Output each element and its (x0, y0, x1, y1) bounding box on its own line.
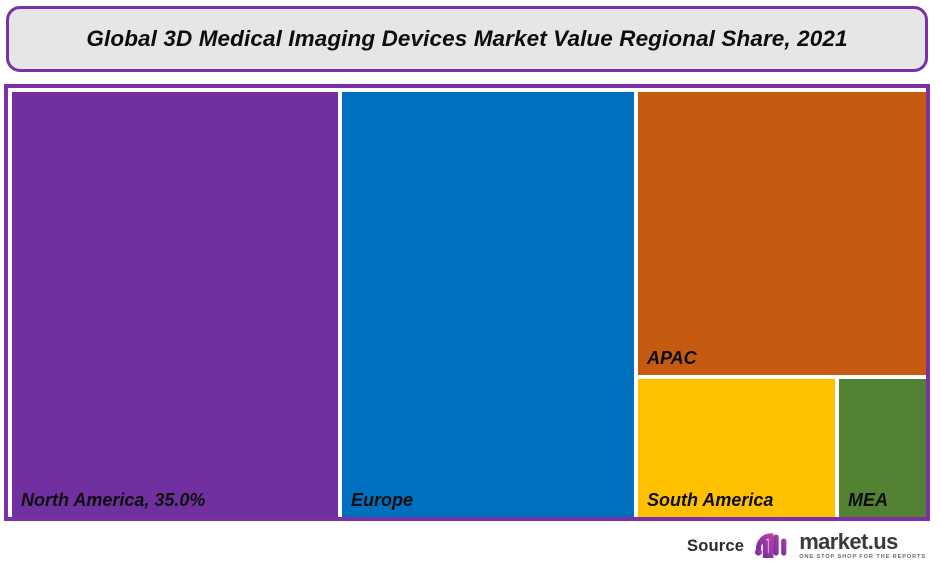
treemap-tile-label: South America (647, 491, 773, 511)
market-us-logo[interactable]: market.us ONE STOP SHOP FOR THE REPORTS (753, 530, 926, 563)
source-label: Source (687, 537, 744, 556)
infographic-root: Global 3D Medical Imaging Devices Market… (0, 0, 940, 566)
treemap-tile-label: Europe (351, 491, 413, 511)
treemap-tile-europe[interactable]: Europe (342, 92, 634, 517)
logo-name: market.us (799, 531, 898, 553)
market-us-logo-icon (753, 530, 793, 563)
chart-title-box: Global 3D Medical Imaging Devices Market… (6, 6, 928, 72)
page-title: Global 3D Medical Imaging Devices Market… (86, 26, 847, 52)
chart-frame: North America, 35.0%EuropeAPACSouth Amer… (4, 84, 930, 521)
logo-tagline: ONE STOP SHOP FOR THE REPORTS (799, 555, 926, 561)
treemap-tile-label: MEA (848, 491, 888, 511)
treemap-tile-south-america[interactable]: South America (638, 379, 835, 517)
treemap-plot-area: North America, 35.0%EuropeAPACSouth Amer… (8, 88, 926, 517)
market-us-wordmark: market.us ONE STOP SHOP FOR THE REPORTS (799, 531, 926, 561)
source-attribution: Source market.us O (687, 529, 926, 563)
treemap-tile-mea[interactable]: MEA (839, 379, 926, 517)
treemap-tile-apac[interactable]: APAC (638, 92, 926, 375)
treemap-tile-label: North America, 35.0% (21, 491, 205, 511)
treemap-tile-north-america[interactable]: North America, 35.0% (12, 92, 338, 517)
treemap-tile-label: APAC (647, 349, 697, 369)
